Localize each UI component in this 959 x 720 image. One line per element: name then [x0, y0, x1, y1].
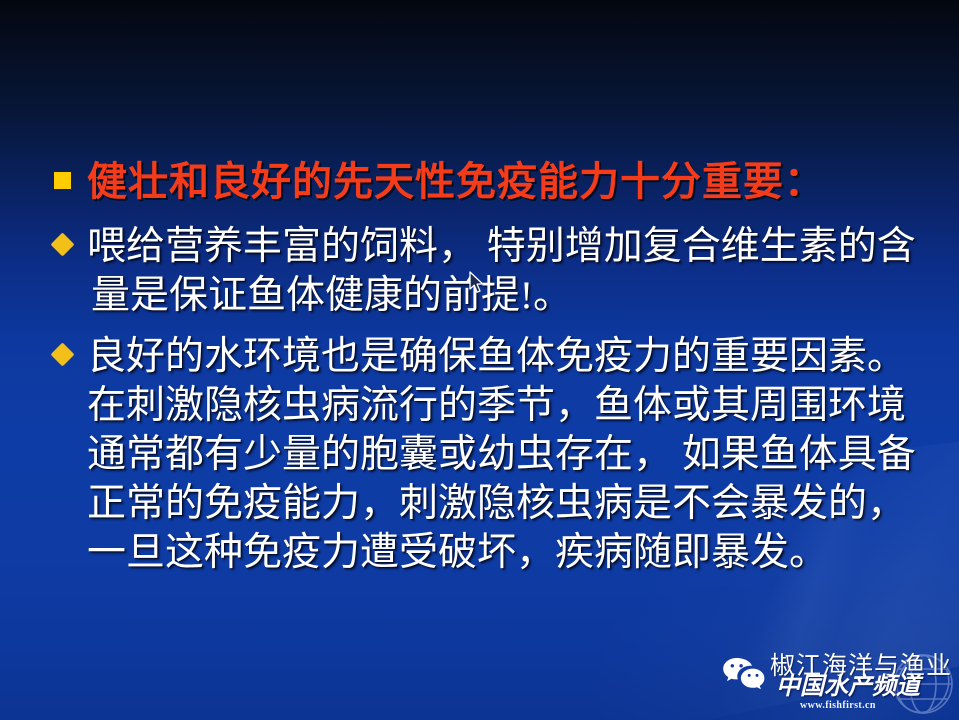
square-bullet-icon [54, 172, 71, 189]
diamond-bullet-icon [50, 232, 74, 256]
page-title: 健壮和良好的先天性免疫能力十分重要： [87, 158, 825, 206]
wechat-icon [722, 656, 766, 690]
paragraph-line: 量是保证鱼体健康的前提!。 [87, 271, 916, 320]
slide-content: 健壮和良好的先天性免疫能力十分重要： 喂给营养丰富的饲料， 特别增加复合维生素的… [0, 0, 959, 720]
paragraph-line: 通常都有少量的胞囊或幼虫存在， 如果鱼体具备 [87, 430, 916, 479]
diamond-bullet-icon [50, 342, 74, 366]
bullet-block-2: 良好的水环境也是确保鱼体免疫力的重要因素。 在刺激隐核虫病流行的季节，鱼体或其周… [54, 332, 916, 577]
paragraph-line: 正常的免疫能力，刺激隐核虫病是不会暴发的， [87, 479, 916, 528]
paragraph-line: 在刺激隐核虫病流行的季节，鱼体或其周围环境 [87, 381, 916, 430]
bullet-block-1: 喂给营养丰富的饲料， 特别增加复合维生素的含 量是保证鱼体健康的前提!。 [54, 222, 916, 320]
watermark-url: www.fishfirst.cn [800, 700, 876, 711]
paragraph-line: 良好的水环境也是确保鱼体免疫力的重要因素。 [87, 332, 916, 381]
watermark-subtitle: 中国水产频道 [776, 674, 920, 700]
paragraph-line: 一旦这种免疫力遭受破坏，疾病随即暴发。 [87, 528, 916, 577]
heading-block: 健壮和良好的先天性免疫能力十分重要： [54, 158, 825, 206]
watermark: 椒江海洋与渔业 中国水产频道 www.fishfirst.cn [714, 648, 959, 720]
paragraph-line: 喂给营养丰富的饲料， 特别增加复合维生素的含 [87, 222, 916, 271]
bullet-paragraph-1: 喂给营养丰富的饲料， 特别增加复合维生素的含 量是保证鱼体健康的前提!。 [87, 222, 916, 320]
bullet-paragraph-2: 良好的水环境也是确保鱼体免疫力的重要因素。 在刺激隐核虫病流行的季节，鱼体或其周… [87, 332, 916, 577]
slide-canvas: 健壮和良好的先天性免疫能力十分重要： 喂给营养丰富的饲料， 特别增加复合维生素的… [0, 0, 959, 720]
